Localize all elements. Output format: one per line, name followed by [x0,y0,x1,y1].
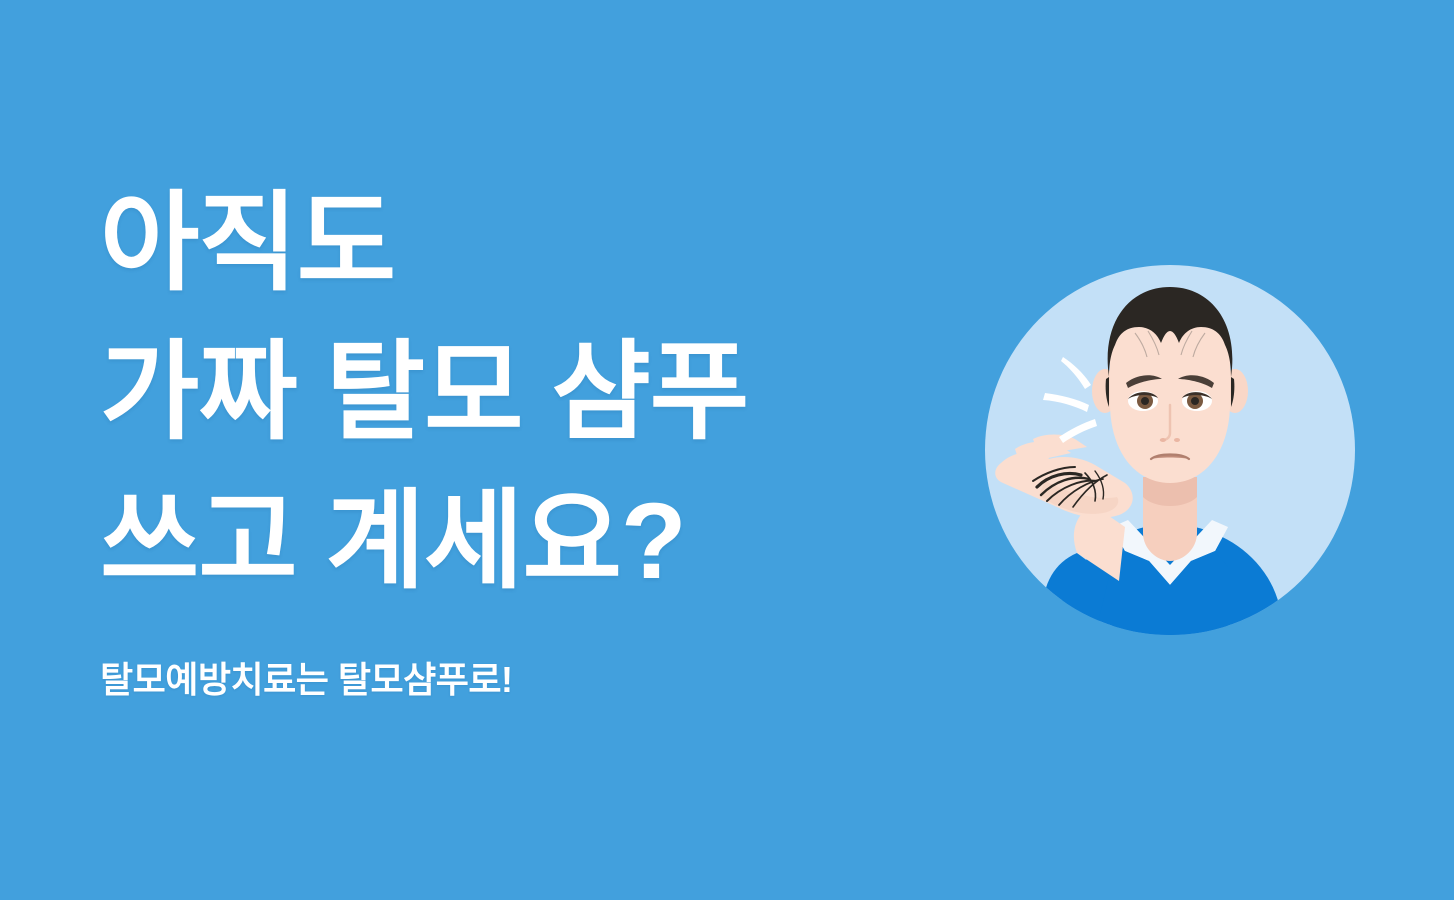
nostril-right [1174,438,1180,442]
page-title: 아직도 가짜 탈모 샴푸 쓰고 계세요? [100,168,920,615]
pupil-left [1141,397,1149,405]
copy-block: 아직도 가짜 탈모 샴푸 쓰고 계세요? 탈모예방치료는 탈모샴푸로! [100,168,920,704]
worried-man-hair-loss-illustration [985,265,1355,635]
headline-line-1: 아직도 [100,168,920,317]
subtitle: 탈모예방치료는 탈모샴푸로! [100,657,920,704]
headline-line-3: 쓰고 계세요? [100,466,920,615]
nostril-left [1160,438,1166,442]
promo-banner: 아직도 가짜 탈모 샴푸 쓰고 계세요? 탈모예방치료는 탈모샴푸로! [0,0,1454,900]
headline-line-2: 가짜 탈모 샴푸 [100,317,920,466]
pupil-right [1191,397,1199,405]
